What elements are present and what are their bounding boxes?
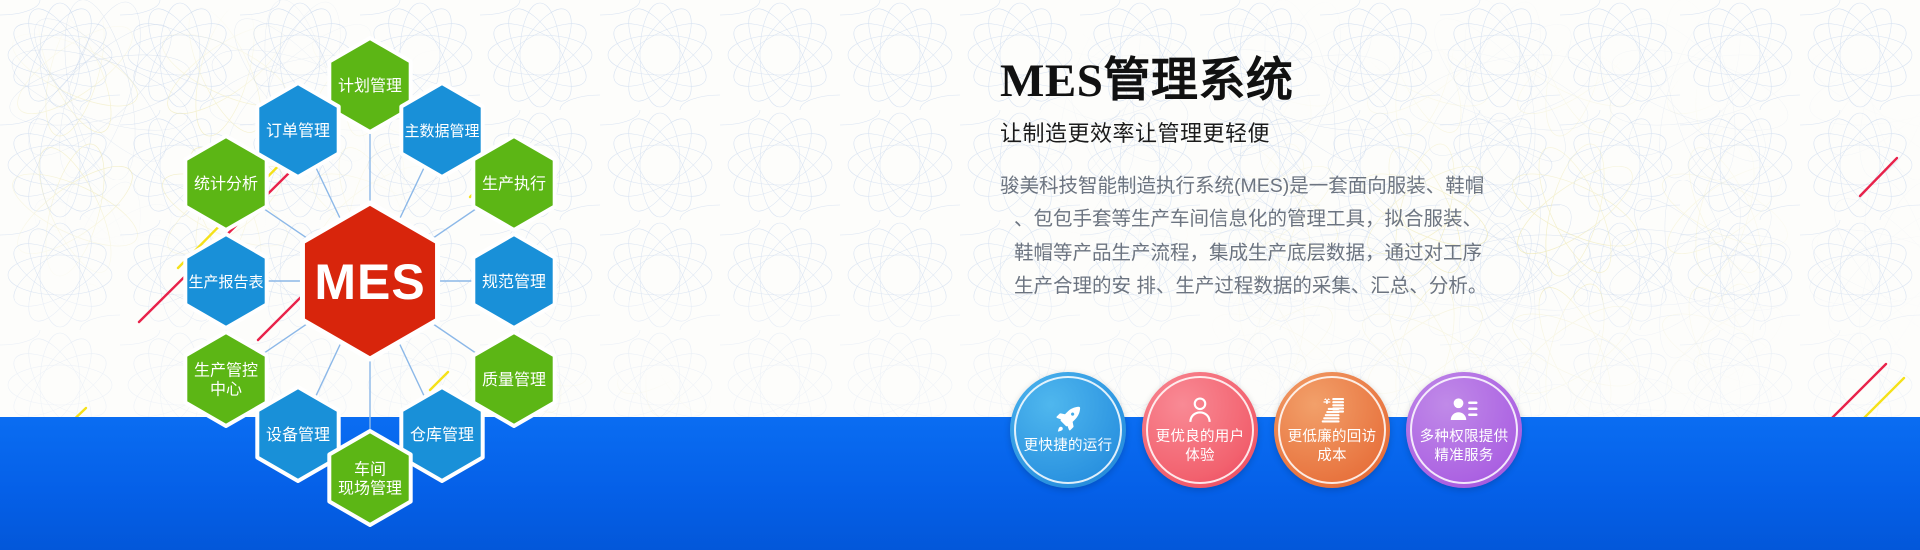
coins-icon	[1317, 395, 1347, 425]
hex-node-label: 仓库管理	[410, 426, 474, 444]
description-line: 骏美科技智能制造执行系统(MES)是一套面向服装、鞋帽	[1000, 170, 1560, 204]
hex-node-label: 设备管理	[266, 426, 330, 444]
badge-permissions[interactable]: 多种权限提供精准服务	[1406, 372, 1522, 488]
description-line: 鞋帽等产品生产流程，集成生产底层数据，通过对工序	[1000, 237, 1560, 271]
hex-node-order-management[interactable]: 订单管理	[257, 83, 338, 177]
hex-node-label: 中心	[210, 381, 242, 399]
feature-badges: 更快捷的运行更优良的用户体验更低廉的回访成本多种权限提供精准服务	[1010, 372, 1522, 488]
badge-label: 多种权限提供精准服务	[1420, 428, 1509, 465]
hex-node-production-control-center[interactable]: 生产管控中心	[185, 332, 266, 426]
hex-node-label: 统计分析	[194, 175, 258, 193]
hex-node-standard-management[interactable]: 规范管理	[473, 234, 554, 328]
text-column: MES管理系统 让制造更效率让管理更轻便 骏美科技智能制造执行系统(MES)是一…	[1000, 56, 1600, 304]
hex-core-label: MES	[314, 254, 425, 310]
badge-faster-operation[interactable]: 更快捷的运行	[1010, 372, 1126, 488]
hex-node-label: 规范管理	[482, 273, 546, 291]
page-title: MES管理系统	[1000, 56, 1600, 107]
user-icon	[1185, 395, 1215, 425]
hex-node-label: 订单管理	[266, 122, 330, 140]
hex-node-workshop-site-management[interactable]: 车间现场管理	[329, 431, 410, 525]
badge-lower-cost[interactable]: 更低廉的回访成本	[1274, 372, 1390, 488]
hex-node-label: 质量管理	[482, 371, 546, 389]
user-list-icon	[1449, 395, 1479, 425]
mes-banner: 计划管理订单管理主数据管理统计分析生产执行生产报告表规范管理生产管控中心质量管理…	[0, 0, 1920, 550]
badge-label: 更低廉的回访成本	[1288, 428, 1377, 465]
hex-node-production-report[interactable]: 生产报告表	[185, 234, 266, 328]
hex-node-core-mes[interactable]: MES	[302, 203, 437, 359]
hex-node-plan-management[interactable]: 计划管理	[329, 38, 410, 132]
hex-node-production-execution[interactable]: 生产执行	[473, 136, 554, 230]
hex-node-quality-management[interactable]: 质量管理	[473, 332, 554, 426]
rocket-icon	[1053, 404, 1083, 434]
hex-node-label: 生产管控	[194, 362, 258, 380]
hex-node-master-data-management[interactable]: 主数据管理	[401, 83, 482, 177]
hex-node-equipment-management[interactable]: 设备管理	[257, 387, 338, 481]
hex-node-warehouse-management[interactable]: 仓库管理	[401, 387, 482, 481]
hex-node-label: 车间	[354, 461, 386, 479]
description-line: 、包包手套等生产车间信息化的管理工具，拟合服装、	[1000, 203, 1560, 237]
hex-node-label: 生产执行	[482, 175, 546, 193]
hex-node-label: 计划管理	[338, 77, 402, 95]
page-subtitle: 让制造更效率让管理更轻便	[1000, 116, 1600, 148]
hex-node-label: 生产报告表	[188, 274, 263, 291]
hex-node-label: 现场管理	[338, 480, 402, 498]
badge-label: 更快捷的运行	[1024, 437, 1113, 456]
hexagon-diagram: 计划管理订单管理主数据管理统计分析生产执行生产报告表规范管理生产管控中心质量管理…	[0, 0, 980, 550]
description-line: 生产合理的安 排、生产过程数据的采集、汇总、分析。	[1000, 270, 1560, 304]
badge-better-experience[interactable]: 更优良的用户体验	[1142, 372, 1258, 488]
hex-node-statistical-analysis[interactable]: 统计分析	[185, 136, 266, 230]
description-paragraph: 骏美科技智能制造执行系统(MES)是一套面向服装、鞋帽、包包手套等生产车间信息化…	[1000, 170, 1560, 304]
hex-node-label: 主数据管理	[404, 123, 479, 140]
badge-label: 更优良的用户体验	[1156, 428, 1245, 465]
